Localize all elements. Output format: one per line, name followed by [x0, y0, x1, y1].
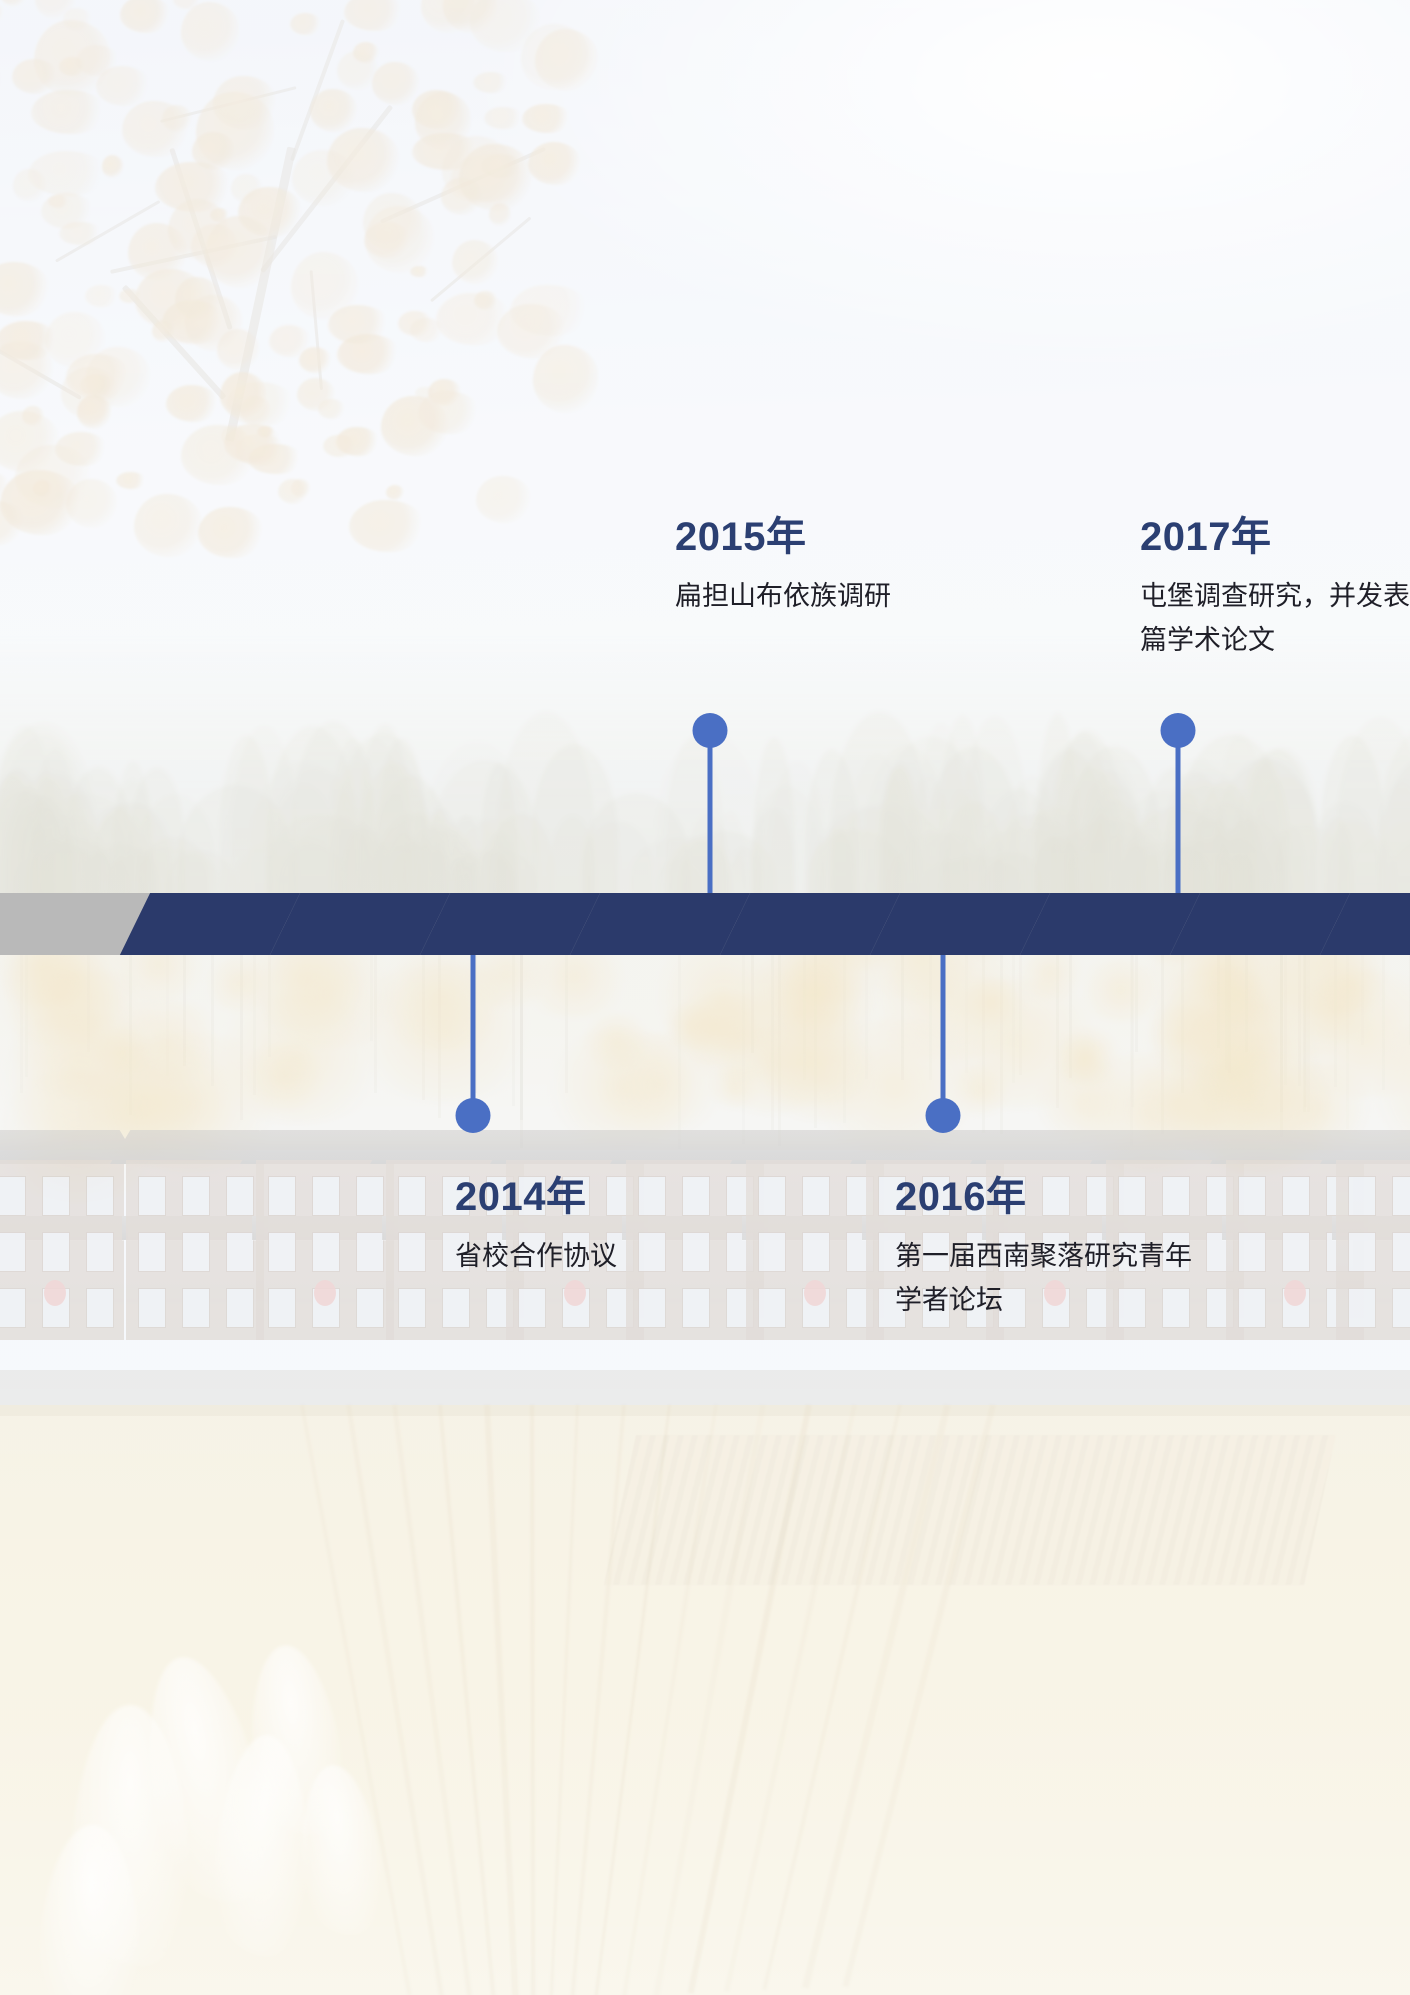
timeline-entry-2017: 2017年屯堡调查研究，并发表 篇学术论文	[1140, 515, 1410, 662]
pin-dot	[456, 1098, 491, 1133]
entry-year-label: 2017年	[1140, 515, 1410, 559]
pin-dot	[926, 1098, 961, 1133]
timeline-entry-2014: 2014年省校合作协议	[455, 1175, 617, 1279]
pin-dot	[693, 713, 728, 748]
entry-description: 省校合作协议	[455, 1235, 617, 1279]
pin-stem	[941, 955, 946, 1105]
autumn-tree-foliage	[0, 0, 580, 590]
entry-year-label: 2016年	[895, 1175, 1192, 1219]
timeline-striped-bar	[0, 893, 1410, 955]
background-photo	[0, 0, 1410, 1995]
entry-description: 扁担山布依族调研	[675, 575, 891, 619]
entry-description: 屯堡调查研究，并发表 篇学术论文	[1140, 575, 1410, 662]
village-houses	[0, 1100, 1410, 1400]
entry-year-label: 2014年	[455, 1175, 617, 1219]
timeline-infographic: 2015年扁担山布依族调研2017年屯堡调查研究，并发表 篇学术论文2014年省…	[0, 0, 1410, 1995]
timeline-entry-2016: 2016年第一届西南聚落研究青年 学者论坛	[895, 1175, 1192, 1322]
entry-year-label: 2015年	[675, 515, 891, 559]
village-scene	[0, 900, 1410, 1995]
timeline-entry-2015: 2015年扁担山布依族调研	[675, 515, 891, 619]
entry-description: 第一届西南聚落研究青年 学者论坛	[895, 1235, 1192, 1322]
wheat-field	[0, 1405, 1410, 1995]
pin-stem	[471, 955, 476, 1105]
pin-dot	[1161, 713, 1196, 748]
